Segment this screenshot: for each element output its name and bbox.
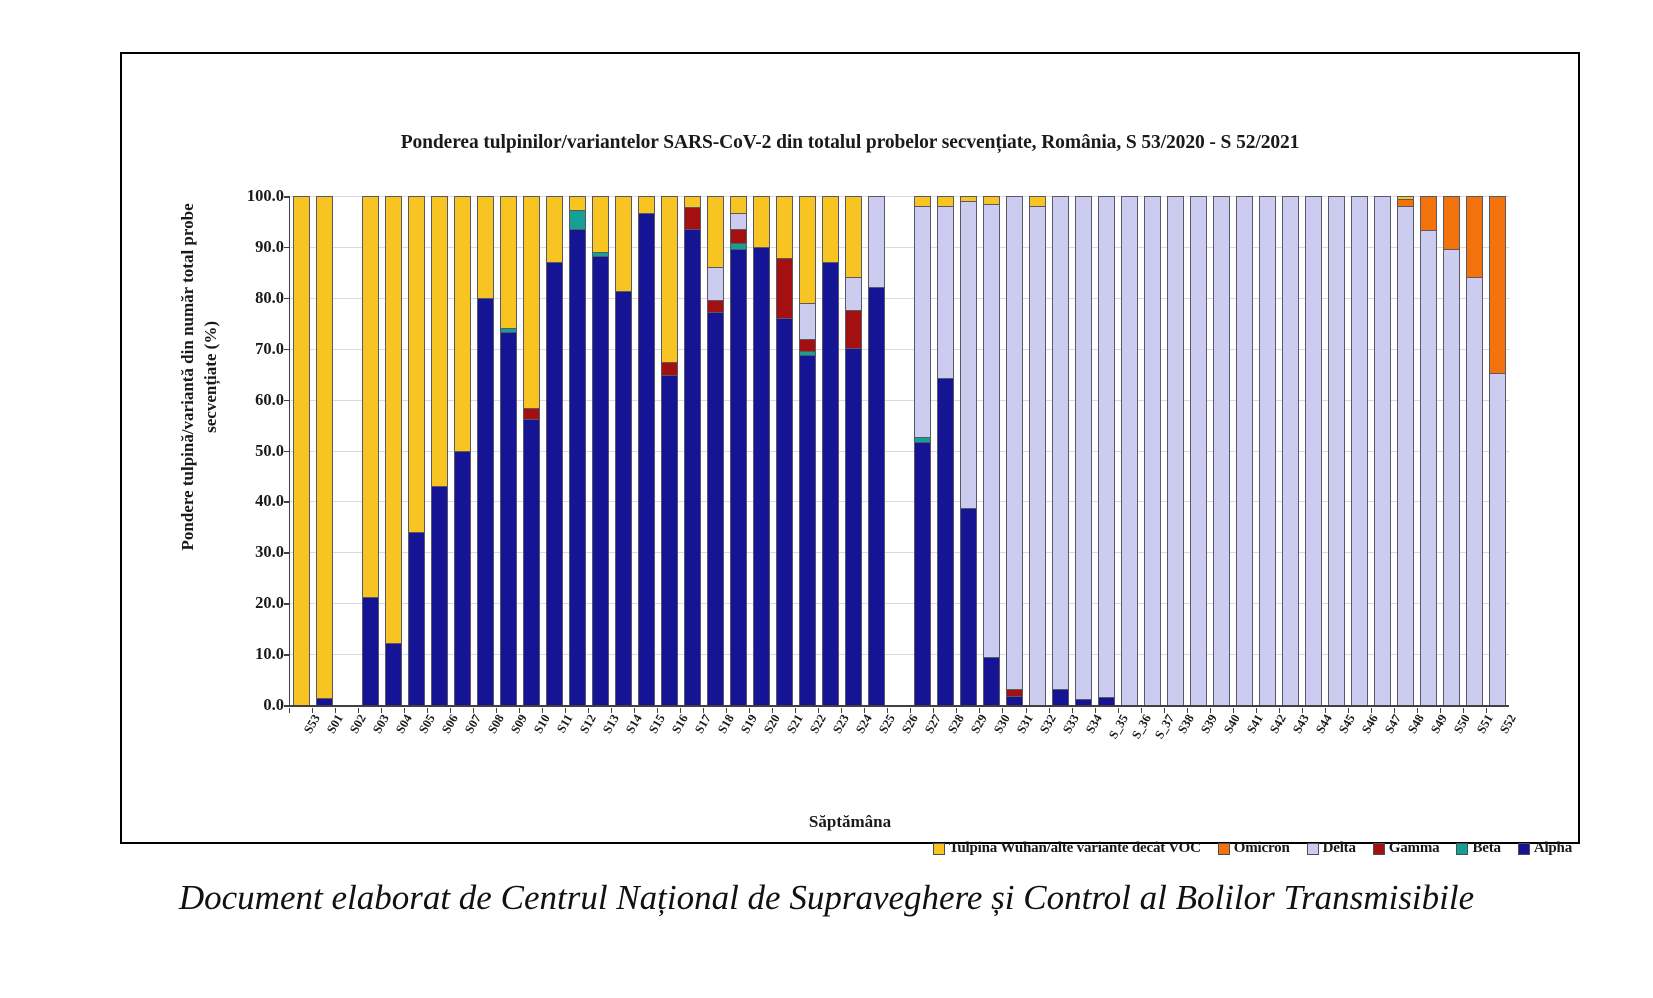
bar-segment-delta [1052, 196, 1069, 689]
bar-segment-delta [914, 206, 931, 437]
bar-slot [566, 196, 589, 705]
legend-label: Alpha [1534, 840, 1572, 857]
bar-segment-wuhan [730, 196, 747, 213]
bar-segment-delta [960, 201, 977, 508]
bar-segment-gamma [684, 207, 701, 229]
bar-segment-beta [569, 210, 586, 229]
stacked-bar[interactable] [730, 196, 747, 705]
x-tick-slot: S23 [818, 708, 841, 766]
bar-segment-wuhan [569, 196, 586, 210]
bar-slot [819, 196, 842, 705]
bar-segment-wuhan [615, 196, 632, 291]
x-tick-slot: S29 [956, 708, 979, 766]
x-tick-slot: S48 [1394, 708, 1417, 766]
x-tick-slot: S25 [864, 708, 887, 766]
bar-slot [1233, 196, 1256, 705]
bar-segment-wuhan [799, 196, 816, 303]
bar-segment-wuhan [592, 196, 609, 251]
x-tick-slot: S53 [289, 708, 312, 766]
stacked-bar[interactable] [523, 196, 540, 705]
bar-segment-delta [1006, 196, 1023, 689]
bar-segment-alpha [431, 486, 448, 705]
bar-slot [727, 196, 750, 705]
stacked-bar[interactable] [1075, 196, 1092, 705]
bar-segment-alpha [661, 375, 678, 705]
x-tick-slot: S21 [772, 708, 795, 766]
stacked-bar[interactable] [454, 196, 471, 705]
stacked-bar[interactable] [362, 196, 379, 705]
x-tick-mark [1187, 708, 1188, 713]
bar-slot [704, 196, 727, 705]
plot-wrap: 0.010.020.030.040.050.060.070.080.090.01… [289, 196, 1509, 706]
x-tick-slot: S11 [542, 708, 565, 766]
x-tick-mark [1279, 708, 1280, 713]
bar-slot [1302, 196, 1325, 705]
x-tick-mark [818, 708, 819, 713]
x-tick-slot: S01 [312, 708, 335, 766]
bar-segment-delta [1213, 196, 1230, 705]
stacked-bar[interactable] [638, 196, 655, 705]
stacked-bar[interactable] [500, 196, 517, 705]
x-tick-slot: S_37 [1141, 708, 1164, 766]
stacked-bar[interactable] [1144, 196, 1161, 705]
x-tick-slot: S14 [611, 708, 634, 766]
x-tick-slot: S08 [473, 708, 496, 766]
bar-slot [980, 196, 1003, 705]
stacked-bar[interactable] [960, 196, 977, 705]
x-tick-slot: S52 [1486, 708, 1509, 766]
x-tick-mark [864, 708, 865, 713]
bar-segment-alpha [523, 419, 540, 705]
bar-segment-wuhan [523, 196, 540, 408]
bar-series-group [290, 196, 1509, 705]
x-tick-slot: S16 [657, 708, 680, 766]
legend-swatch-icon [933, 843, 945, 855]
bar-slot [1486, 196, 1509, 705]
bar-segment-delta [1374, 196, 1391, 705]
bar-slot [888, 196, 911, 705]
x-tick-mark [772, 708, 773, 713]
bar-segment-delta [730, 213, 747, 229]
legend-swatch-icon [1518, 843, 1530, 855]
legend-swatch-icon [1218, 843, 1230, 855]
bar-segment-alpha [500, 332, 517, 705]
bar-segment-wuhan [937, 196, 954, 206]
x-tick-slot: S51 [1463, 708, 1486, 766]
bar-segment-delta [1282, 196, 1299, 705]
stacked-bar[interactable] [1466, 196, 1483, 705]
y-tick-label: 30.0 [194, 542, 284, 562]
x-tick-slot: S24 [841, 708, 864, 766]
bar-segment-gamma [776, 258, 793, 318]
bar-segment-gamma [845, 310, 862, 348]
x-tick-mark [1233, 708, 1234, 713]
x-tick-mark [312, 708, 313, 713]
x-tick-mark [1164, 708, 1165, 713]
x-axis-ticks: S53S01S02S03S04S05S06S07S08S09S10S11S12S… [289, 708, 1509, 766]
x-tick-mark [680, 708, 681, 713]
x-tick-slot: S03 [358, 708, 381, 766]
bar-segment-delta [1190, 196, 1207, 705]
stacked-bar[interactable] [1328, 196, 1345, 705]
x-tick-slot: S28 [933, 708, 956, 766]
bar-segment-wuhan [661, 196, 678, 362]
stacked-bar[interactable] [477, 196, 494, 705]
bar-segment-wuhan [707, 196, 724, 267]
bar-slot [1118, 196, 1141, 705]
bar-segment-alpha [1098, 697, 1115, 705]
bar-segment-wuhan [845, 196, 862, 277]
x-tick-slot: S19 [726, 708, 749, 766]
bar-slot [1371, 196, 1394, 705]
legend-label: Delta [1323, 840, 1356, 857]
bar-segment-wuhan [638, 196, 655, 213]
plot-area: 0.010.020.030.040.050.060.070.080.090.01… [289, 196, 1509, 706]
x-tick-slot: S41 [1233, 708, 1256, 766]
x-tick-slot: S05 [404, 708, 427, 766]
x-tick-slot: S26 [887, 708, 910, 766]
bar-slot [658, 196, 681, 705]
bar-slot [405, 196, 428, 705]
bar-slot [911, 196, 934, 705]
bar-segment-gamma [730, 229, 747, 243]
bar-segment-delta [983, 204, 1000, 657]
stacked-bar[interactable] [385, 196, 402, 705]
x-tick-mark [749, 708, 750, 713]
bar-slot [543, 196, 566, 705]
x-tick-slot: S33 [1049, 708, 1072, 766]
bar-segment-omicron [1420, 196, 1437, 230]
bar-segment-alpha [1075, 699, 1092, 705]
stacked-bar[interactable] [1443, 196, 1460, 705]
bar-segment-gamma [523, 408, 540, 419]
bar-slot [612, 196, 635, 705]
x-tick-mark [335, 708, 336, 713]
x-tick-slot: S06 [427, 708, 450, 766]
bar-segment-delta [799, 303, 816, 339]
x-tick-mark [1348, 708, 1349, 713]
stacked-bar[interactable] [1351, 196, 1368, 705]
footer-note: Document elaborat de Centrul Național de… [0, 878, 1653, 918]
x-tick-mark [956, 708, 957, 713]
chart-legend: Tulpina Wuhan/alte variante decât VOCOmi… [933, 840, 1572, 857]
bar-slot [796, 196, 819, 705]
stacked-bar[interactable] [1282, 196, 1299, 705]
bar-segment-omicron [1466, 196, 1483, 277]
bar-segment-delta [1489, 373, 1506, 705]
stacked-bar[interactable] [1489, 196, 1506, 705]
bar-segment-delta [1075, 196, 1092, 699]
bar-segment-alpha [776, 318, 793, 705]
x-tick-mark [1072, 708, 1073, 713]
stacked-bar[interactable] [1420, 196, 1437, 705]
x-tick-slot: S31 [1002, 708, 1025, 766]
bar-segment-delta [1167, 196, 1184, 705]
x-tick-slot: S32 [1026, 708, 1049, 766]
x-tick-slot: S22 [795, 708, 818, 766]
bar-slot [474, 196, 497, 705]
x-tick-mark [1026, 708, 1027, 713]
x-tick-slot: S30 [979, 708, 1002, 766]
bar-slot [382, 196, 405, 705]
stacked-bar[interactable] [615, 196, 632, 705]
bar-segment-alpha [707, 312, 724, 705]
bar-segment-alpha [569, 229, 586, 705]
x-tick-mark [1325, 708, 1326, 713]
legend-item-alpha[interactable]: Alpha [1518, 840, 1572, 857]
bar-segment-alpha [983, 657, 1000, 705]
bar-segment-delta [1351, 196, 1368, 705]
bar-slot [451, 196, 474, 705]
bar-slot [290, 196, 313, 705]
x-tick-mark [1417, 708, 1418, 713]
bar-segment-alpha [937, 378, 954, 705]
bar-segment-delta [1259, 196, 1276, 705]
stacked-bar[interactable] [753, 196, 770, 705]
bar-segment-delta [868, 196, 885, 287]
bar-segment-wuhan [1029, 196, 1046, 206]
legend-swatch-icon [1373, 843, 1385, 855]
bar-slot [635, 196, 658, 705]
stacked-bar[interactable] [569, 196, 586, 705]
bar-segment-alpha [730, 249, 747, 705]
bar-slot [497, 196, 520, 705]
stacked-bar[interactable] [1397, 196, 1414, 705]
stacked-bar[interactable] [1052, 196, 1069, 705]
x-tick-mark [473, 708, 474, 713]
x-tick-slot: S39 [1187, 708, 1210, 766]
stacked-bar[interactable] [1167, 196, 1184, 705]
stacked-bar[interactable] [983, 196, 1000, 705]
x-tick-mark [289, 708, 290, 713]
legend-item-omicron[interactable]: Omicron [1218, 840, 1290, 857]
x-tick-slot: S_36 [1118, 708, 1141, 766]
bar-segment-omicron [1443, 196, 1460, 249]
x-tick-mark [657, 708, 658, 713]
bar-slot [520, 196, 543, 705]
stacked-bar[interactable] [1236, 196, 1253, 705]
x-tick-slot: S49 [1417, 708, 1440, 766]
x-tick-slot: S13 [588, 708, 611, 766]
bar-segment-alpha [454, 451, 471, 706]
legend-item-beta[interactable]: Beta [1456, 840, 1500, 857]
bar-slot [589, 196, 612, 705]
slide-page: Ponderea tulpinilor/variantelor SARS-CoV… [0, 0, 1653, 998]
bar-slot [773, 196, 796, 705]
x-tick-mark [358, 708, 359, 713]
x-tick-mark [979, 708, 980, 713]
bar-segment-wuhan [822, 196, 839, 262]
x-tick-mark [1256, 708, 1257, 713]
x-tick-mark [1463, 708, 1464, 713]
x-tick-mark [1118, 708, 1119, 713]
x-tick-slot: S46 [1348, 708, 1371, 766]
stacked-bar[interactable] [1121, 196, 1138, 705]
x-tick-mark [542, 708, 543, 713]
x-tick-slot: S10 [519, 708, 542, 766]
stacked-bar[interactable] [1374, 196, 1391, 705]
bar-slot [1325, 196, 1348, 705]
bar-segment-alpha [316, 698, 333, 705]
bar-segment-alpha [638, 213, 655, 705]
x-tick-slot: S27 [910, 708, 933, 766]
stacked-bar[interactable] [661, 196, 678, 705]
bar-segment-wuhan [362, 196, 379, 597]
bar-slot [1348, 196, 1371, 705]
bar-segment-delta [1029, 206, 1046, 705]
bar-slot [1049, 196, 1072, 705]
x-tick-mark [1302, 708, 1303, 713]
y-tick-label: 100.0 [194, 186, 284, 206]
legend-label: Omicron [1234, 840, 1290, 857]
legend-item-gamma[interactable]: Gamma [1373, 840, 1440, 857]
x-tick-slot: S17 [680, 708, 703, 766]
gridline [290, 705, 1509, 707]
x-tick-slot: S07 [450, 708, 473, 766]
bar-segment-wuhan [983, 196, 1000, 204]
bar-slot [1072, 196, 1095, 705]
bar-segment-gamma [799, 339, 816, 351]
stacked-bar[interactable] [937, 196, 954, 705]
bar-segment-wuhan [684, 196, 701, 207]
bar-segment-omicron [1489, 196, 1506, 373]
legend-label: Gamma [1389, 840, 1440, 857]
stacked-bar[interactable] [1190, 196, 1207, 705]
bar-segment-gamma [661, 362, 678, 375]
bar-segment-alpha [385, 643, 402, 705]
x-tick-mark [1095, 708, 1096, 713]
x-tick-slot: S04 [381, 708, 404, 766]
stacked-bar[interactable] [431, 196, 448, 705]
x-tick-mark [1002, 708, 1003, 713]
legend-label: Beta [1472, 840, 1500, 857]
legend-item-delta[interactable]: Delta [1307, 840, 1356, 857]
x-tick-mark [1440, 708, 1441, 713]
bar-segment-delta [1443, 249, 1460, 705]
stacked-bar[interactable] [845, 196, 862, 705]
stacked-bar[interactable] [684, 196, 701, 705]
bar-segment-alpha [615, 291, 632, 705]
stacked-bar[interactable] [1305, 196, 1322, 705]
x-tick-mark [910, 708, 911, 713]
x-tick-slot: S50 [1440, 708, 1463, 766]
y-tick-label: 50.0 [194, 441, 284, 461]
stacked-bar[interactable] [707, 196, 724, 705]
bar-segment-delta [1098, 196, 1115, 697]
stacked-bar[interactable] [1098, 196, 1115, 705]
stacked-bar[interactable] [776, 196, 793, 705]
x-tick-mark [496, 708, 497, 713]
x-tick-mark [795, 708, 796, 713]
stacked-bar[interactable] [868, 196, 885, 705]
bar-segment-delta [1121, 196, 1138, 705]
x-tick-label: S52 [1497, 712, 1520, 736]
bar-slot [1440, 196, 1463, 705]
x-tick-mark [450, 708, 451, 713]
bar-slot [1210, 196, 1233, 705]
stacked-bar[interactable] [822, 196, 839, 705]
x-tick-mark [404, 708, 405, 713]
bar-segment-delta [1397, 206, 1414, 705]
bar-segment-alpha [362, 597, 379, 705]
x-tick-mark [611, 708, 612, 713]
x-tick-slot: S09 [496, 708, 519, 766]
x-tick-mark [841, 708, 842, 713]
x-tick-mark [1049, 708, 1050, 713]
stacked-bar[interactable] [1006, 196, 1023, 705]
x-tick-mark [726, 708, 727, 713]
bar-segment-delta [1305, 196, 1322, 705]
bar-segment-wuhan [753, 196, 770, 247]
bar-slot [428, 196, 451, 705]
chart-title: Ponderea tulpinilor/variantelor SARS-CoV… [122, 132, 1578, 154]
bar-segment-delta [1236, 196, 1253, 705]
bar-segment-wuhan [316, 196, 333, 698]
bar-slot [1256, 196, 1279, 705]
stacked-bar[interactable] [546, 196, 563, 705]
stacked-bar[interactable] [914, 196, 931, 705]
stacked-bar[interactable] [799, 196, 816, 705]
x-tick-slot: S_35 [1095, 708, 1118, 766]
bar-segment-alpha [546, 262, 563, 705]
x-tick-slot: S47 [1371, 708, 1394, 766]
bar-segment-alpha [799, 355, 816, 705]
bar-segment-alpha [845, 348, 862, 705]
bar-segment-alpha [477, 298, 494, 705]
bar-slot [750, 196, 773, 705]
bar-slot [681, 196, 704, 705]
bar-segment-omicron [1397, 199, 1414, 206]
y-tick-label: 20.0 [194, 593, 284, 613]
bar-slot [1463, 196, 1486, 705]
x-tick-slot: S34 [1072, 708, 1095, 766]
bar-slot [957, 196, 980, 705]
bar-slot [1095, 196, 1118, 705]
stacked-bar[interactable] [1029, 196, 1046, 705]
bar-slot [1394, 196, 1417, 705]
y-tick-label: 60.0 [194, 390, 284, 410]
y-tick-label: 80.0 [194, 288, 284, 308]
bar-slot [1003, 196, 1026, 705]
stacked-bar[interactable] [1213, 196, 1230, 705]
bar-segment-alpha [592, 256, 609, 705]
bar-segment-alpha [822, 262, 839, 705]
bar-segment-wuhan [776, 196, 793, 258]
legend-item-wuhan[interactable]: Tulpina Wuhan/alte variante decât VOC [933, 840, 1201, 857]
bar-segment-wuhan [500, 196, 517, 328]
y-tick-label: 40.0 [194, 491, 284, 511]
stacked-bar[interactable] [408, 196, 425, 705]
stacked-bar[interactable] [1259, 196, 1276, 705]
bar-slot [336, 196, 359, 705]
bar-slot [934, 196, 957, 705]
stacked-bar[interactable] [316, 196, 333, 705]
x-tick-mark [1371, 708, 1372, 713]
bar-segment-delta [1466, 277, 1483, 705]
bar-slot [842, 196, 865, 705]
stacked-bar[interactable] [293, 196, 310, 705]
bar-segment-alpha [914, 442, 931, 705]
bar-slot [1279, 196, 1302, 705]
x-tick-mark [1394, 708, 1395, 713]
bar-slot [1026, 196, 1049, 705]
x-tick-mark [933, 708, 934, 713]
x-tick-slot: S43 [1279, 708, 1302, 766]
stacked-bar[interactable] [592, 196, 609, 705]
x-tick-mark [427, 708, 428, 713]
x-tick-slot: S38 [1164, 708, 1187, 766]
bar-slot [1141, 196, 1164, 705]
